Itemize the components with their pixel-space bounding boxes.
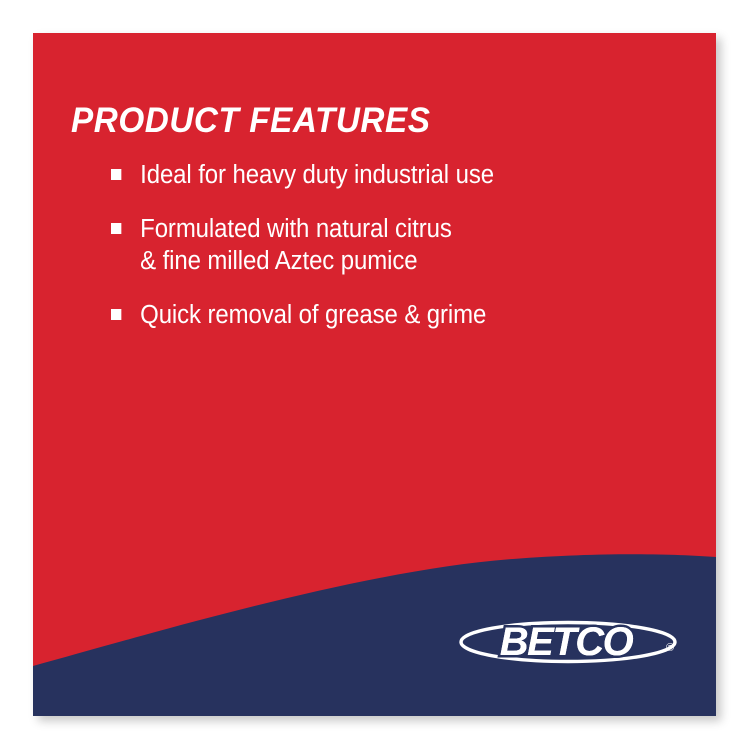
list-item: Formulated with natural citrus & fine mi… [111,213,637,277]
square-bullet-icon [111,309,121,320]
square-bullet-icon [111,223,121,234]
list-item-label: Quick removal of grease & grime [140,299,637,331]
list-item-label: Formulated with natural citrus & fine mi… [140,213,637,277]
list-item-label: Ideal for heavy duty industrial use [140,159,637,191]
list-item: Quick removal of grease & grime [111,299,637,331]
list-item: Ideal for heavy duty industrial use [111,159,637,191]
betco-logo: BETCO BETCO ® [458,611,688,673]
square-bullet-icon [111,169,121,180]
logo-wordmark-fill: BETCO [500,620,634,664]
product-feature-card: PRODUCT FEATURES Ideal for heavy duty in… [33,33,716,716]
feature-list: Ideal for heavy duty industrial use Form… [111,159,671,353]
page-root: PRODUCT FEATURES Ideal for heavy duty in… [0,0,750,750]
registered-trademark-icon: ® [666,642,674,654]
page-title: PRODUCT FEATURES [71,101,430,141]
